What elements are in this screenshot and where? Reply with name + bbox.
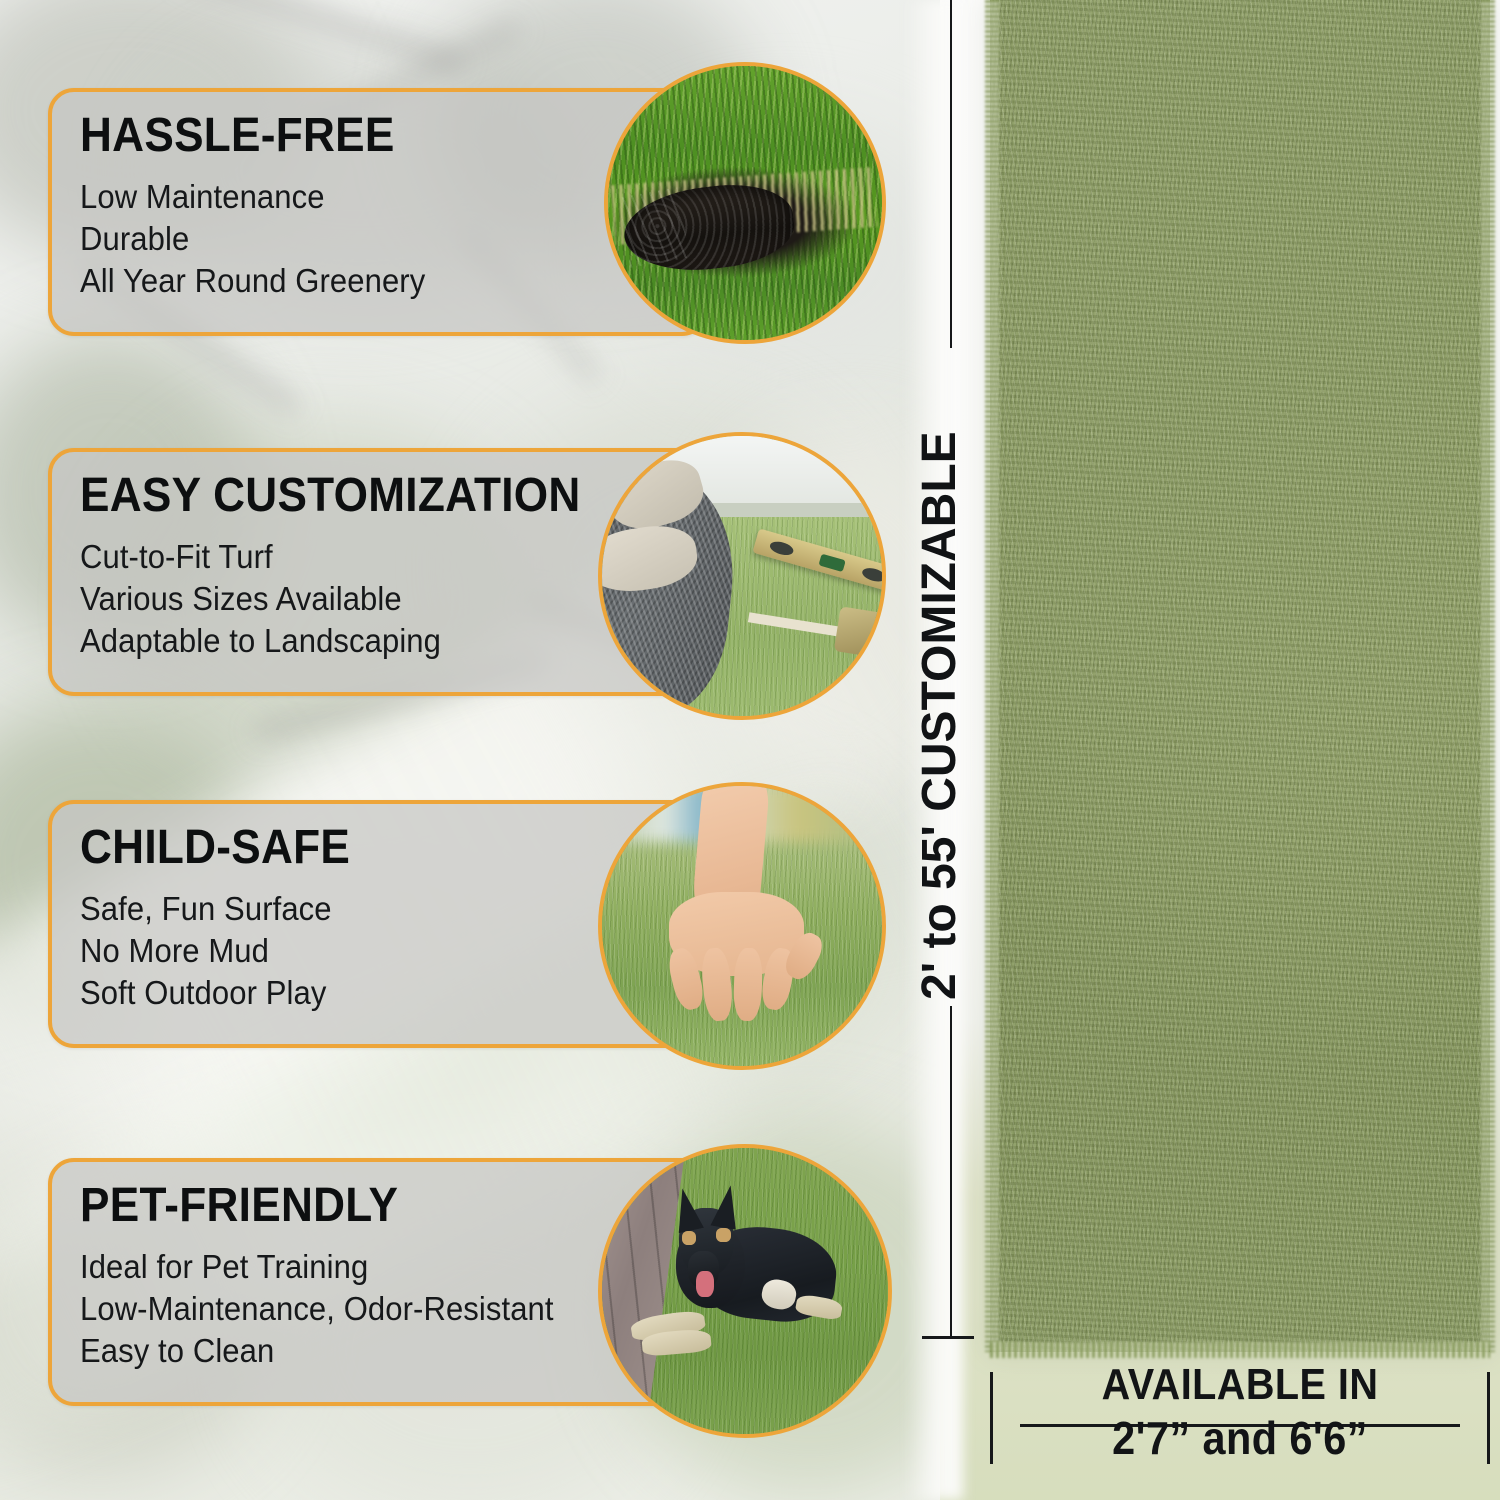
vertical-dimension-label-wrap: 2' to 55' CUSTOMIZABLE	[916, 431, 964, 1000]
dog-ear	[710, 1183, 743, 1230]
feature-bullet: Ideal for Pet Training	[80, 1246, 667, 1288]
vertical-dimension-line-lower	[950, 1006, 952, 1336]
horizontal-dimension-annotation: AVAILABLE IN 2'7” and 6'6”	[990, 1364, 1490, 1490]
feature-bullet: No More Mud	[80, 930, 667, 972]
feature-photo-child-safe	[598, 782, 886, 1070]
vertical-dimension-line-upper	[950, 0, 952, 348]
feature-card-title: PET-FRIENDLY	[80, 1182, 654, 1230]
child-hand-on-turf-photo	[602, 786, 882, 1066]
vertical-dimension-end-cap	[922, 1336, 974, 1339]
tape-measure-body	[834, 606, 886, 658]
feature-photo-hassle-free	[604, 62, 886, 344]
feature-card-title: HASSLE-FREE	[80, 112, 654, 160]
turf-backing-ridges	[619, 187, 691, 268]
feature-bullet: Cut-to-Fit Turf	[80, 536, 667, 578]
available-in-text: AVAILABLE IN	[1015, 1364, 1465, 1406]
horizontal-dimension-label: AVAILABLE IN 2'7” and 6'6”	[990, 1364, 1490, 1460]
turf-roll-product-image	[990, 0, 1490, 1352]
feature-bullet: Safe, Fun Surface	[80, 888, 667, 930]
feature-bullet: Various Sizes Available	[80, 578, 667, 620]
turf-edge-right	[1481, 0, 1495, 1352]
paver-walkway	[598, 1144, 687, 1438]
feature-bullet: Adaptable to Landscaping	[80, 620, 667, 662]
feature-bullet: Low-Maintenance, Odor-Resistant	[80, 1288, 667, 1330]
feature-bullet: Low Maintenance	[80, 176, 667, 218]
infographic-canvas: 2' to 55' CUSTOMIZABLE HASSLE-FREE Low M…	[0, 0, 1500, 1500]
available-sizes-text: 2'7” and 6'6”	[1015, 1416, 1465, 1460]
turf-edge-left	[985, 0, 999, 1352]
turf-installation-photo	[602, 436, 882, 716]
feature-photo-pet-friendly	[598, 1144, 892, 1438]
feature-bullet: Easy to Clean	[80, 1330, 667, 1372]
dog-tongue	[696, 1271, 713, 1297]
vertical-dimension-label: 2' to 55' CUSTOMIZABLE	[913, 431, 966, 1000]
feature-bullet: All Year Round Greenery	[80, 260, 667, 302]
feature-bullet: Soft Outdoor Play	[80, 972, 667, 1014]
feature-photo-easy-customization	[598, 432, 886, 720]
turf-grain-texture	[990, 0, 1490, 1352]
dog-eyebrow-marking	[716, 1228, 730, 1242]
feature-card-title: EASY CUSTOMIZATION	[80, 472, 654, 520]
dog-on-turf-photo	[602, 1148, 888, 1434]
turf-backing-photo	[608, 66, 882, 340]
feature-card-title: CHILD-SAFE	[80, 824, 654, 872]
feature-bullet: Durable	[80, 218, 667, 260]
turf-edge-bottom	[990, 1342, 1490, 1358]
dog-eyebrow-marking	[682, 1231, 696, 1245]
child-finger	[732, 948, 763, 1022]
